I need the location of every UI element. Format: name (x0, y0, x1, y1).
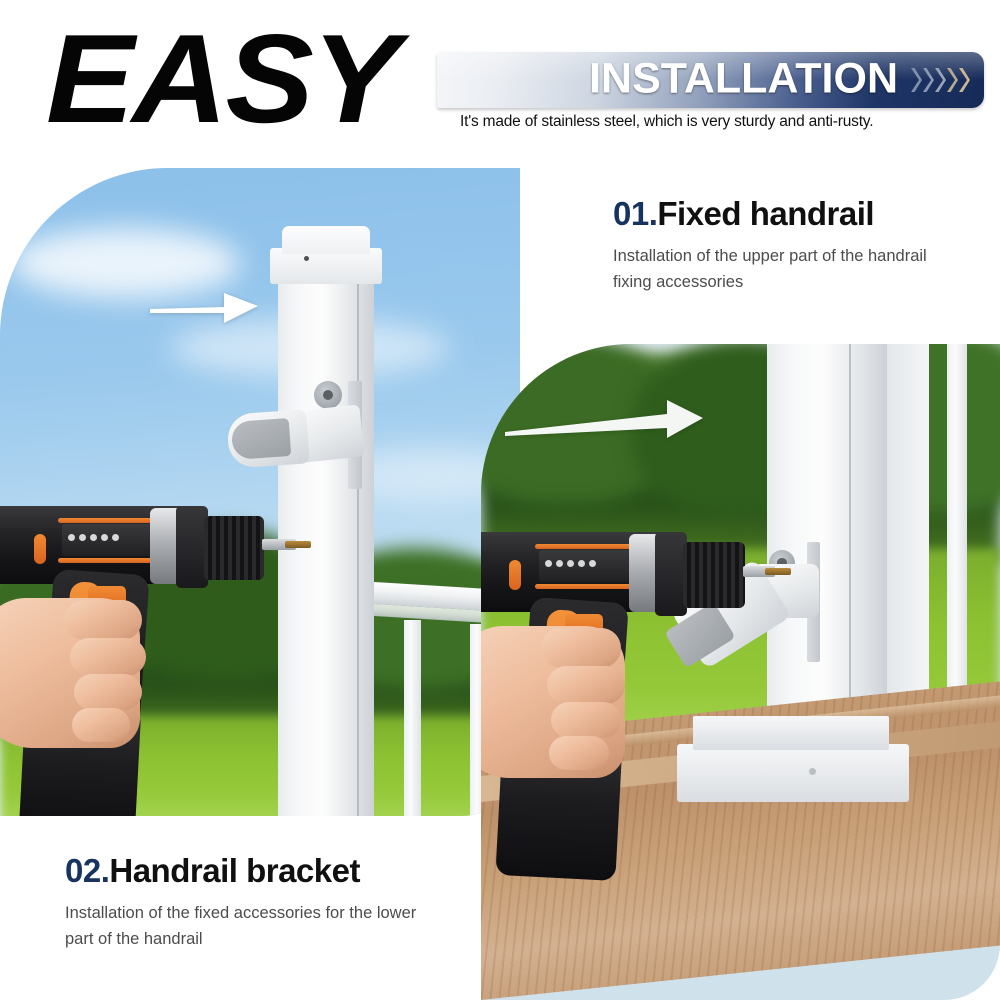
drill-vent-accent (509, 560, 521, 590)
drill-hole (314, 381, 342, 409)
post-cap-top (282, 226, 370, 254)
drill-indicator-dot (545, 560, 552, 567)
finger (549, 736, 609, 770)
finger (551, 702, 621, 738)
arrow-right-icon (505, 392, 705, 444)
drill-indicator-dot (556, 560, 563, 567)
finger (70, 638, 146, 676)
finger (541, 628, 621, 668)
chevron-right-icon (935, 67, 946, 93)
infographic-root: INSTALLATION EASY It's mad (0, 0, 1000, 1000)
baluster (404, 620, 421, 816)
drill-chuck (683, 542, 745, 608)
step-1-caption: 01.Fixed handrail Installation of the up… (613, 195, 963, 295)
step-2-photo (481, 344, 1000, 1000)
banner-label: INSTALLATION (589, 58, 898, 101)
finger (64, 600, 142, 640)
drill-indicator-dot (90, 534, 97, 541)
step-2-caption: 02.Handrail bracket Installation of the … (65, 852, 437, 952)
drill-vent-accent (34, 534, 46, 564)
drill-chuck (204, 516, 264, 580)
finger (74, 674, 142, 710)
drill-orange-accent (535, 584, 641, 589)
drill-indicator-dot (567, 560, 574, 567)
drill-orange-accent (58, 518, 162, 523)
drill-indicator-dot (578, 560, 585, 567)
header-banner-area: INSTALLATION EASY It's mad (0, 0, 1000, 165)
drill-orange-accent (58, 558, 162, 563)
header-subtitle: It's made of stainless steel, which is v… (460, 113, 990, 131)
screw (285, 541, 311, 548)
post-base-collar (693, 716, 889, 750)
drill-indicator-dot (68, 534, 75, 541)
chevron-right-icon (947, 67, 958, 93)
installation-banner: INSTALLATION (437, 52, 984, 108)
drill-indicator-dot (79, 534, 86, 541)
drill-indicator-dot (589, 560, 596, 567)
step-2-body: Installation of the fixed accessories fo… (65, 901, 437, 952)
chevron-arrow-group (911, 67, 970, 93)
arrow-right-icon (150, 283, 260, 329)
post-cap-screw (304, 256, 309, 261)
bracket-inner-shadow (231, 418, 292, 460)
step-2-title-text: Handrail bracket (109, 852, 360, 889)
step-1-number: 01. (613, 195, 657, 232)
step-2-number: 02. (65, 852, 109, 889)
screw (765, 568, 791, 575)
drill-indicator-dot (101, 534, 108, 541)
drill-indicator-dots (68, 534, 119, 541)
post-base-flange (677, 744, 909, 802)
step-1-title-text: Fixed handrail (657, 195, 874, 232)
finger (72, 708, 130, 742)
drill-indicator-dots (545, 560, 596, 567)
post-edge-line (357, 271, 359, 816)
drill-orange-accent (535, 544, 641, 549)
step-1-photo (0, 168, 520, 816)
step-2-title: 02.Handrail bracket (65, 852, 437, 890)
flange-screw (809, 768, 816, 775)
chevron-right-icon (923, 67, 934, 93)
chevron-right-icon (911, 67, 922, 93)
step-1-title: 01.Fixed handrail (613, 195, 963, 233)
headline-easy: EASY (46, 16, 398, 142)
drill-indicator-dot (112, 534, 119, 541)
chevron-right-icon (959, 67, 970, 93)
finger (547, 666, 625, 704)
step-1-body: Installation of the upper part of the ha… (613, 244, 963, 295)
